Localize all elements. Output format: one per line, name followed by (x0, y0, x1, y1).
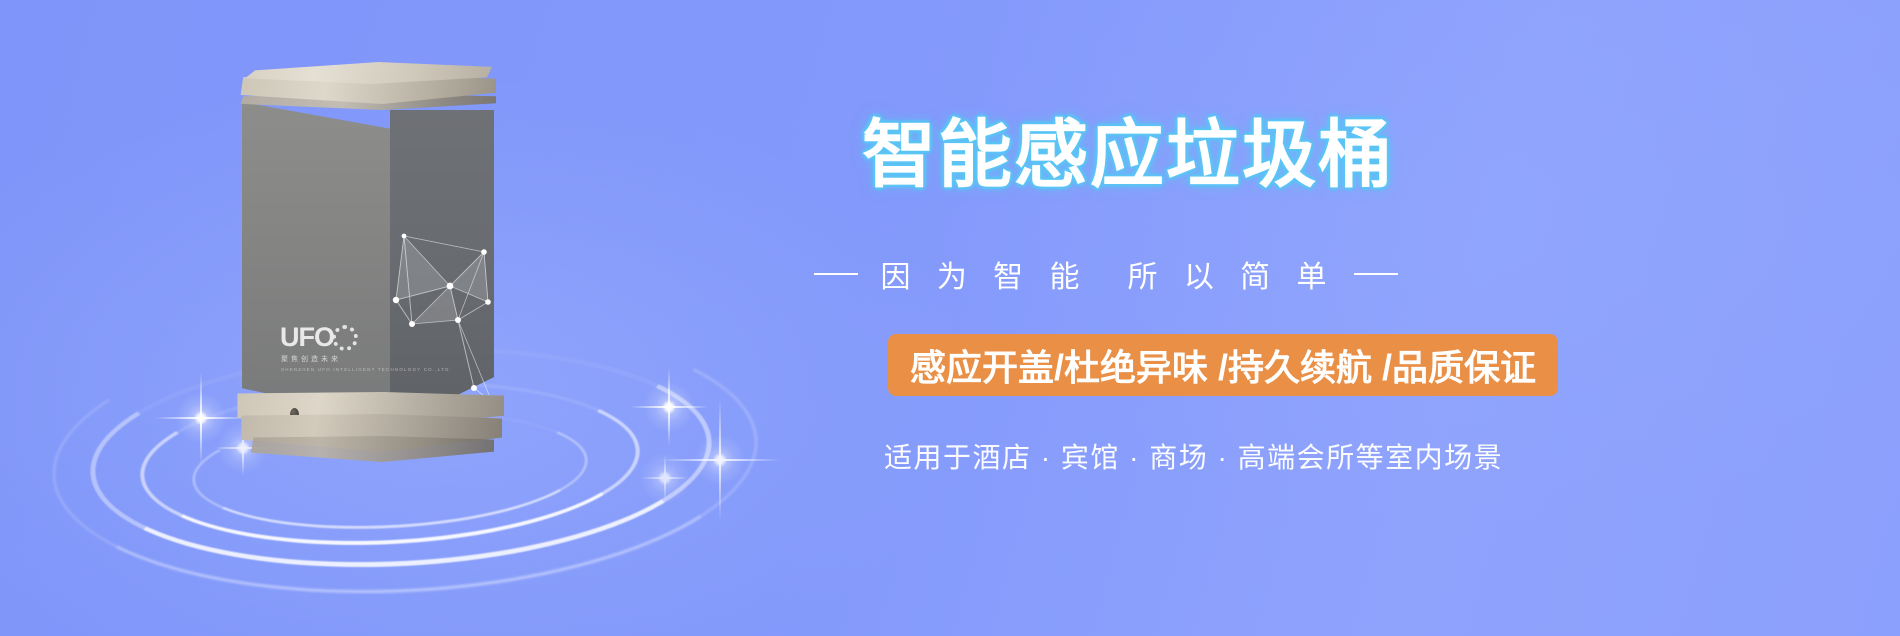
smart-trash-bin-product: UFO 聚焦创造未来 SHENZHEN UFO INTELLIGENT TECH… (238, 62, 508, 434)
usage-scenario-note: 适用于酒店 · 宾馆 · 商场 · 高端会所等室内场景 (884, 436, 1503, 476)
feature-highlight-badge: 感应开盖/杜绝异味 /持久续航 /品质保证 (888, 334, 1558, 396)
tagline-rule-right (1354, 273, 1398, 275)
brand-company-line: SHENZHEN UFO INTELLIGENT TECHNOLOGY CO.,… (281, 367, 450, 372)
product-image-stage: UFO 聚焦创造未来 SHENZHEN UFO INTELLIGENT TECH… (60, 0, 820, 636)
brand-chinese-name: 聚焦创造未来 (281, 354, 341, 364)
banner-copy-block: 智能感应垃圾桶 因 为 智 能 所 以 简 单 感应开盖/杜绝异味 /持久续航 … (856, 0, 1856, 636)
tagline-rule-left (814, 273, 858, 275)
banner-tagline: 因 为 智 能 所 以 简 单 (746, 252, 1466, 296)
brand-ring-icon (332, 325, 358, 351)
product-brand-logo: UFO 聚焦创造未来 SHENZHEN UFO INTELLIGENT TECH… (280, 324, 378, 382)
tagline-text: 因 为 智 能 所 以 简 单 (876, 252, 1335, 296)
bin-corner-trim-left (238, 62, 247, 366)
product-promo-banner: UFO 聚焦创造未来 SHENZHEN UFO INTELLIGENT TECH… (0, 0, 1900, 636)
banner-headline: 智能感应垃圾桶 (862, 118, 1394, 192)
brand-wordmark: UFO (280, 324, 378, 351)
